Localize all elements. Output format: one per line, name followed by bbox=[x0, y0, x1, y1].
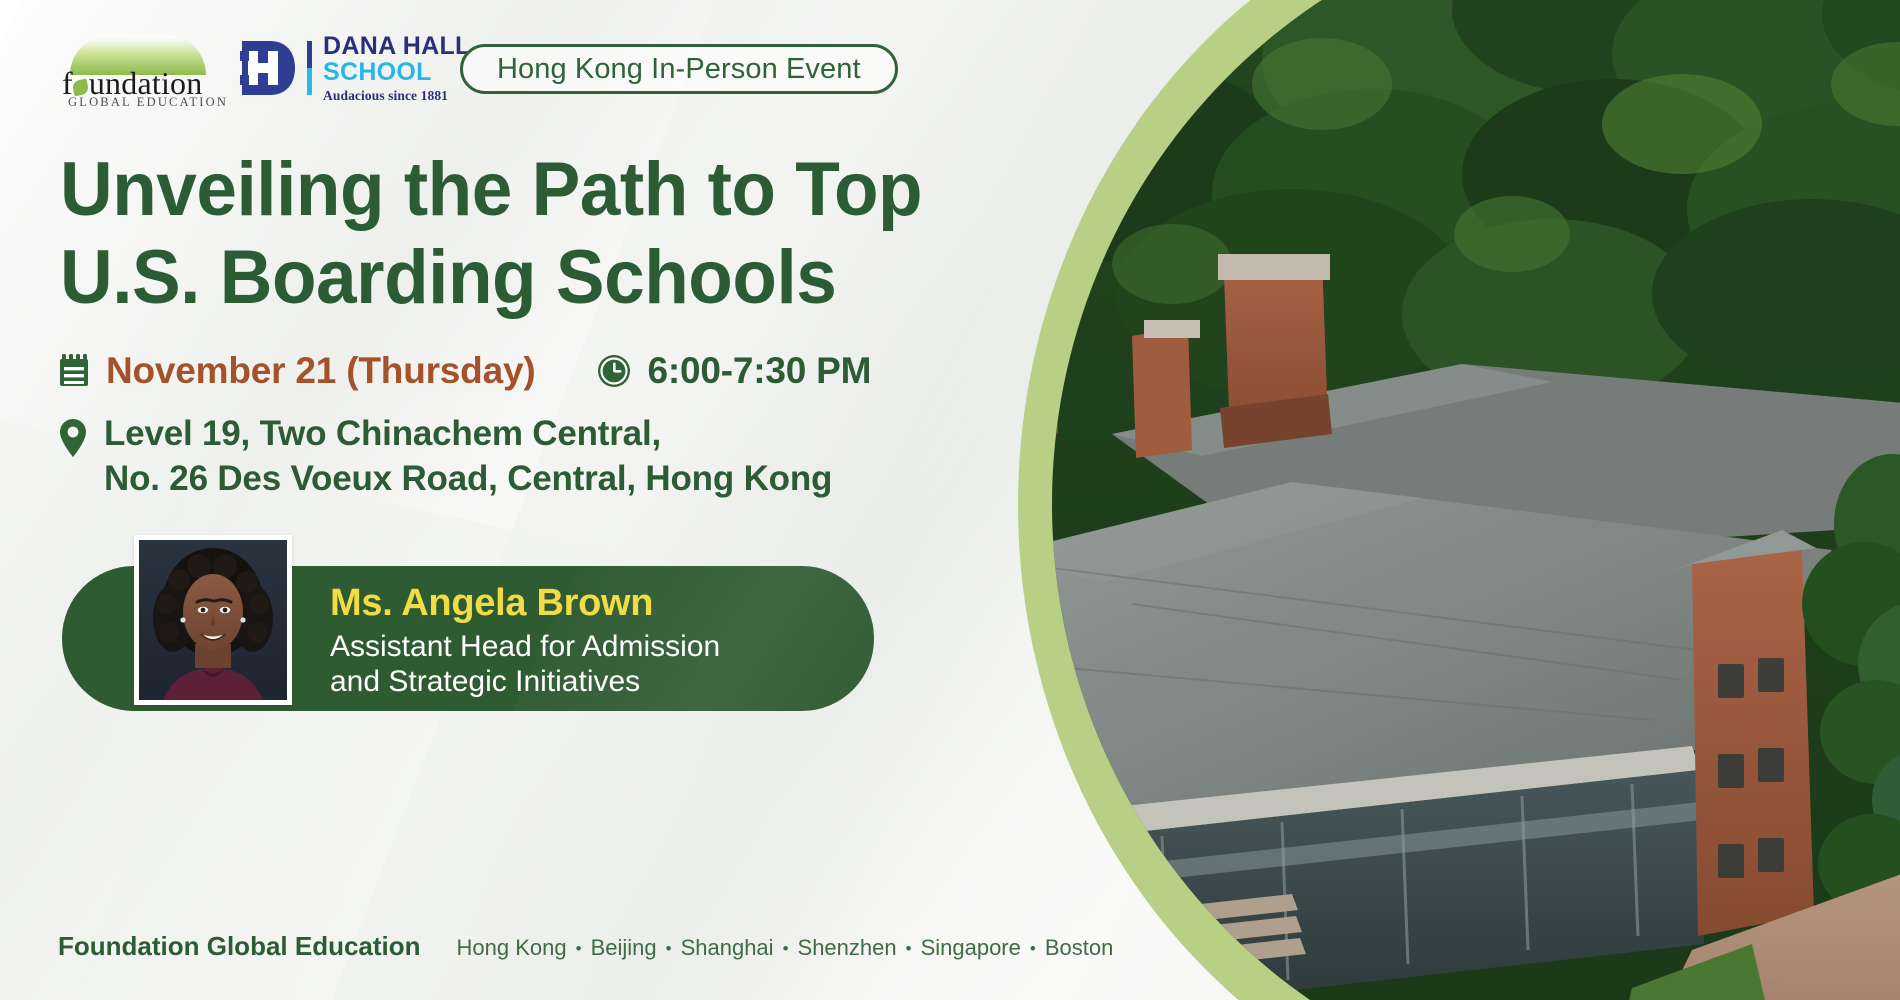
footer: Foundation Global Education Hong Kong•Be… bbox=[58, 931, 1113, 962]
city-separator: • bbox=[666, 939, 672, 958]
event-date-text: November 21 (Thursday) bbox=[106, 350, 535, 392]
headline-line-1: Unveiling the Path to Top bbox=[60, 146, 1020, 234]
foundation-global-education-logo[interactable]: fundation GLOBAL EDUCATION bbox=[62, 35, 214, 105]
dana-hall-line1: DANA HALL bbox=[323, 34, 471, 59]
speaker-role-line-1: Assistant Head for Admission bbox=[330, 629, 860, 664]
footer-city: Shanghai bbox=[681, 935, 774, 960]
event-date: November 21 (Thursday) bbox=[58, 350, 535, 392]
city-separator: • bbox=[783, 939, 789, 958]
city-separator: • bbox=[1030, 939, 1036, 958]
city-separator: • bbox=[576, 939, 582, 958]
leaf-o-icon bbox=[72, 78, 90, 96]
address-line-2: No. 26 Des Voeux Road, Central, Hong Kon… bbox=[104, 457, 832, 502]
event-address: Level 19, Two Chinachem Central, No. 26 … bbox=[104, 412, 832, 502]
footer-brand: Foundation Global Education bbox=[58, 931, 421, 962]
speaker-role: Assistant Head for Admission and Strateg… bbox=[330, 629, 860, 700]
footer-city: Singapore bbox=[921, 935, 1021, 960]
event-type-badge[interactable]: Hong Kong In-Person Event bbox=[460, 44, 898, 94]
dana-hall-d-monogram-icon bbox=[240, 39, 296, 97]
campus-photo-mask bbox=[1052, 0, 1900, 1000]
calendar-icon bbox=[58, 354, 90, 388]
event-poster: fundation GLOBAL EDUCATION DANA HALL SCH… bbox=[0, 0, 1900, 1000]
aerial-campus-photo bbox=[1052, 0, 1900, 1000]
footer-city: Boston bbox=[1045, 935, 1114, 960]
speaker-details: Ms. Angela Brown Assistant Head for Admi… bbox=[330, 584, 860, 700]
speaker-role-line-2: and Strategic Initiatives bbox=[330, 664, 860, 699]
headline-line-2: U.S. Boarding Schools bbox=[60, 234, 1020, 322]
page-title: Unveiling the Path to Top U.S. Boarding … bbox=[60, 146, 1020, 322]
logo-divider-navy bbox=[307, 41, 312, 68]
footer-city: Beijing bbox=[591, 935, 657, 960]
footer-city: Hong Kong bbox=[457, 935, 567, 960]
dana-hall-school-logo[interactable]: DANA HALL SCHOOL Audacious since 1881 bbox=[240, 34, 471, 105]
footer-city-list: Hong Kong•Beijing•Shanghai•Shenzhen•Sing… bbox=[457, 935, 1114, 961]
event-location: Level 19, Two Chinachem Central, No. 26 … bbox=[58, 412, 832, 502]
foundation-subtitle: GLOBAL EDUCATION bbox=[68, 95, 228, 110]
dana-hall-tagline: Audacious since 1881 bbox=[323, 89, 471, 103]
campus-photo-panel bbox=[980, 0, 1900, 1000]
location-pin-icon bbox=[58, 412, 92, 502]
clock-icon bbox=[597, 354, 631, 388]
dana-hall-line2: SCHOOL bbox=[323, 60, 471, 85]
city-separator: • bbox=[906, 939, 912, 958]
event-time: 6:00-7:30 PM bbox=[597, 350, 871, 392]
event-time-text: 6:00-7:30 PM bbox=[647, 350, 871, 392]
address-line-1: Level 19, Two Chinachem Central, bbox=[104, 412, 832, 457]
speaker-name: Ms. Angela Brown bbox=[330, 584, 860, 624]
date-time-row: November 21 (Thursday) 6:00-7:30 PM bbox=[58, 350, 871, 392]
speaker-photo-frame bbox=[134, 535, 292, 705]
logo-row: fundation GLOBAL EDUCATION DANA HALL SCH… bbox=[62, 34, 471, 105]
speaker-avatar bbox=[139, 540, 287, 700]
event-type-badge-label: Hong Kong In-Person Event bbox=[497, 53, 861, 86]
footer-city: Shenzhen bbox=[798, 935, 897, 960]
logo-divider-cyan bbox=[307, 68, 312, 95]
